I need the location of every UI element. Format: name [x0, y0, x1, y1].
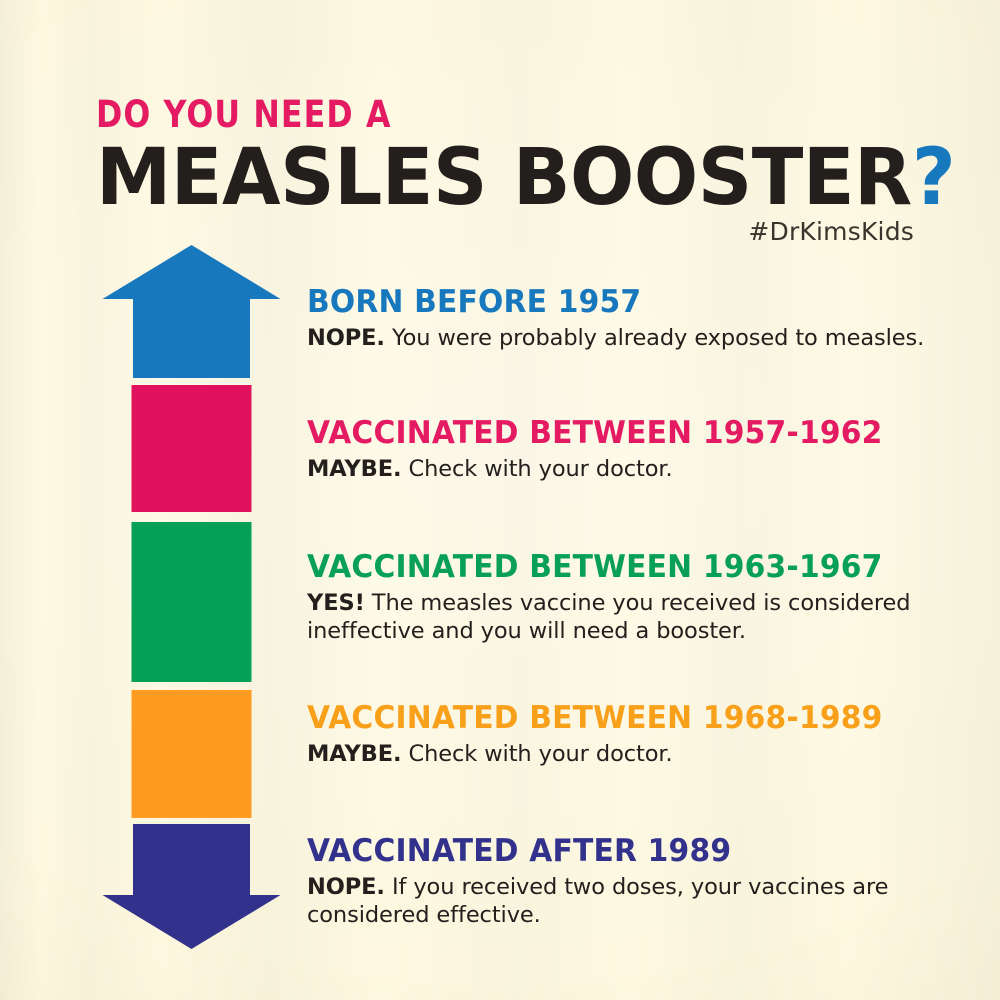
- info-row-1963-1967: VACCINATED BETWEEN 1963-1967 YES! The me…: [307, 551, 937, 645]
- info-row-answer: YES!: [307, 590, 365, 616]
- arrow-segment-1968-1989: [132, 690, 252, 818]
- info-row-1968-1989: VACCINATED BETWEEN 1968-1989 MAYBE. Chec…: [307, 702, 937, 768]
- arrow-segment-born-before-1957: [103, 245, 281, 378]
- arrow-segment-after-1989: [103, 824, 281, 949]
- info-row-body: NOPE. If you received two doses, your va…: [307, 873, 937, 930]
- page-title-question-mark: ?: [912, 133, 955, 223]
- info-row-answer: NOPE.: [307, 325, 385, 351]
- info-row-body: NOPE. You were probably already exposed …: [307, 324, 937, 352]
- info-row-body: YES! The measles vaccine you received is…: [307, 589, 937, 646]
- info-row-body: MAYBE. Check with your doctor.: [307, 455, 937, 483]
- info-row-answer: MAYBE.: [307, 456, 401, 482]
- info-row-heading: VACCINATED BETWEEN 1963-1967: [307, 551, 912, 584]
- info-row-detail: If you received two doses, your vaccines…: [307, 874, 888, 928]
- vertical-double-arrow: [96, 236, 296, 952]
- poster-heading: DO YOU NEED A MEASLES BOOSTER?: [96, 96, 936, 216]
- info-row-body: MAYBE. Check with your doctor.: [307, 740, 937, 768]
- info-row-after-1989: VACCINATED AFTER 1989 NOPE. If you recei…: [307, 835, 937, 929]
- info-row-heading: VACCINATED AFTER 1989: [307, 835, 912, 868]
- info-row-heading: BORN BEFORE 1957: [307, 286, 912, 319]
- page-title: MEASLES BOOSTER?: [96, 140, 911, 216]
- info-row-1957-1962: VACCINATED BETWEEN 1957-1962 MAYBE. Chec…: [307, 417, 937, 483]
- info-row-detail: You were probably already exposed to mea…: [392, 325, 924, 351]
- arrow-segment-1957-1962: [132, 385, 252, 512]
- info-row-answer: NOPE.: [307, 874, 385, 900]
- poster-kicker: DO YOU NEED A: [96, 96, 894, 133]
- infographic-poster: DO YOU NEED A MEASLES BOOSTER? #DrKimsKi…: [0, 0, 1000, 1000]
- info-row-heading: VACCINATED BETWEEN 1968-1989: [307, 702, 912, 735]
- page-title-text: MEASLES BOOSTER: [96, 133, 912, 223]
- info-row-detail: Check with your doctor.: [408, 741, 672, 767]
- info-row-answer: MAYBE.: [307, 741, 401, 767]
- arrow-segment-1963-1967: [132, 522, 252, 682]
- info-row-heading: VACCINATED BETWEEN 1957-1962: [307, 417, 912, 450]
- info-row-born-before-1957: BORN BEFORE 1957 NOPE. You were probably…: [307, 286, 937, 352]
- info-row-detail: Check with your doctor.: [408, 456, 672, 482]
- info-row-detail: The measles vaccine you received is cons…: [307, 590, 910, 644]
